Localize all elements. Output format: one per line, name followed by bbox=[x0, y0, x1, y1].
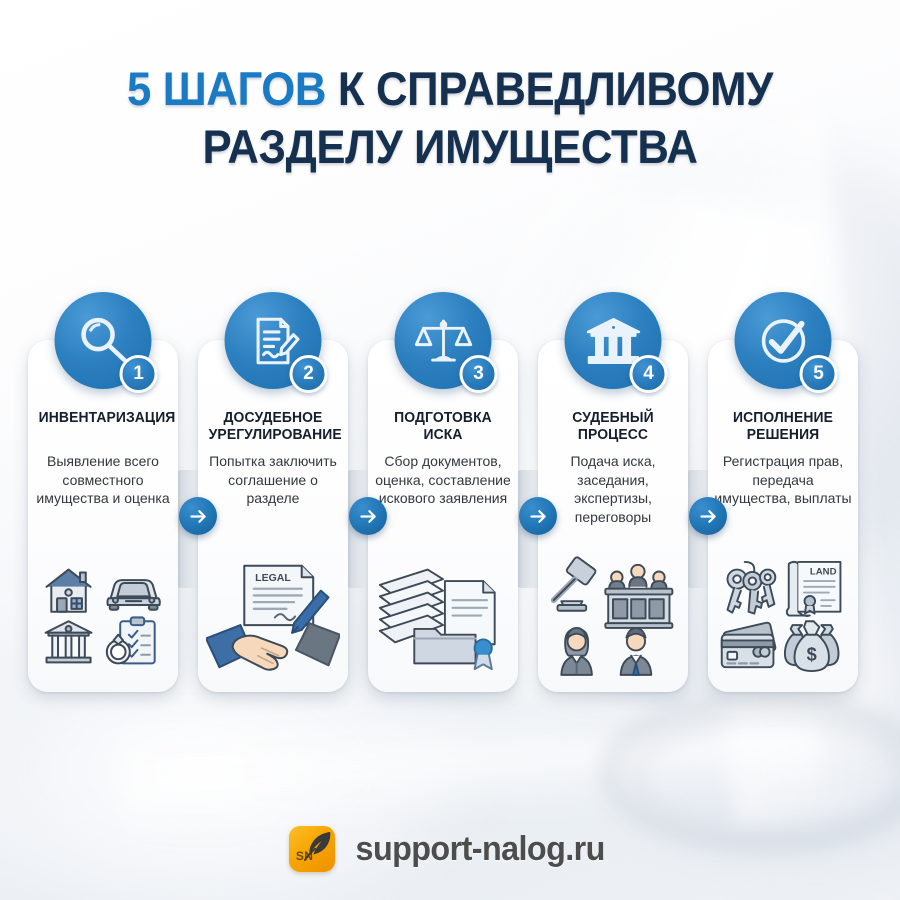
arrow-1-to-2[interactable] bbox=[179, 497, 217, 535]
arrow-4-to-5[interactable] bbox=[689, 497, 727, 535]
illustration-house-car-bank-ring bbox=[36, 552, 170, 680]
step-description: Выявление всего совместного имущества и … bbox=[34, 452, 172, 508]
step-title: ДОСУДЕБНОЕ УРЕГУЛИРОВАНИЕ bbox=[209, 410, 338, 444]
illustration-keys-deed-cards-moneybags: LAND bbox=[716, 552, 850, 680]
step-description: Подача иска, заседания, экспертизы, пере… bbox=[544, 452, 682, 526]
step-card-4[interactable]: 4 СУДЕБНЫЙ ПРОЦЕСС Подача иска, заседани… bbox=[538, 340, 688, 692]
step-description: Попытка заключить соглашение о разделе bbox=[204, 452, 342, 508]
step-number-badge: 3 bbox=[460, 355, 498, 393]
courthouse-icon: 4 bbox=[565, 292, 662, 389]
illustration-gavel-bench-lawyers bbox=[546, 552, 680, 680]
step-card-5[interactable]: 5 ИСПОЛНЕНИЕ РЕШЕНИЯ Регистрация прав, п… bbox=[708, 340, 858, 692]
infographic-canvas: 5 ШАГОВ К СПРАВЕДЛИВОМУ РАЗДЕЛУ ИМУЩЕСТВ… bbox=[0, 0, 900, 900]
page-title: 5 ШАГОВ К СПРАВЕДЛИВОМУ РАЗДЕЛУ ИМУЩЕСТВ… bbox=[0, 60, 900, 176]
scales-icon: 3 bbox=[395, 292, 492, 389]
background-light-streak-3 bbox=[117, 682, 822, 838]
step-title: ИНВЕНТАРИЗАЦИЯ bbox=[39, 410, 168, 427]
land-label: LAND bbox=[810, 566, 837, 577]
check-circle-icon: 5 bbox=[735, 292, 832, 389]
step-number-badge: 2 bbox=[290, 355, 328, 393]
title-line-1-rest: К СПРАВЕДЛИВОМУ bbox=[338, 62, 773, 115]
illustration-documents-folder-seal bbox=[376, 552, 510, 680]
legal-label: LEGAL bbox=[255, 572, 291, 584]
step-description: Регистрация прав, передача имущества, вы… bbox=[714, 452, 852, 508]
step-card-1[interactable]: 1 ИНВЕНТАРИЗАЦИЯ Выявление всего совмест… bbox=[28, 340, 178, 692]
arrow-2-to-3[interactable] bbox=[349, 497, 387, 535]
magnifier-icon: 1 bbox=[55, 292, 152, 389]
arrow-3-to-4[interactable] bbox=[519, 497, 557, 535]
site-url: support-nalog.ru bbox=[355, 830, 604, 869]
svg-text:$: $ bbox=[807, 645, 817, 665]
quill-icon bbox=[303, 829, 333, 861]
arrow-right-icon bbox=[188, 506, 209, 527]
step-title: ИСПОЛНЕНИЕ РЕШЕНИЯ bbox=[719, 410, 848, 444]
step-number-badge: 5 bbox=[800, 355, 838, 393]
step-card-3[interactable]: 3 ПОДГОТОВКА ИСКА Сбор документов, оценк… bbox=[368, 340, 518, 692]
title-line-1: 5 ШАГОВ К СПРАВЕДЛИВОМУ bbox=[32, 60, 869, 118]
illustration-handshake-legal-document: LEGAL bbox=[206, 552, 340, 680]
title-line-2: РАЗДЕЛУ ИМУЩЕСТВА bbox=[32, 118, 869, 176]
title-accent: 5 ШАГОВ bbox=[127, 62, 326, 115]
arrow-right-icon bbox=[698, 506, 719, 527]
background-gavel-block-blur-inner bbox=[630, 710, 900, 840]
step-number-badge: 4 bbox=[630, 355, 668, 393]
step-title: СУДЕБНЫЙ ПРОЦЕСС bbox=[549, 410, 678, 444]
arrow-right-icon bbox=[528, 506, 549, 527]
document-pen-icon: 2 bbox=[225, 292, 322, 389]
support-nalog-logo-icon[interactable]: SN bbox=[289, 826, 335, 872]
step-number-badge: 1 bbox=[120, 355, 158, 393]
arrow-right-icon bbox=[358, 506, 379, 527]
step-description: Сбор документов, оценка, составление иск… bbox=[374, 452, 512, 508]
footer-branding: SN support-nalog.ru bbox=[0, 826, 900, 872]
step-title: ПОДГОТОВКА ИСКА bbox=[379, 410, 508, 444]
step-card-2[interactable]: 2 ДОСУДЕБНОЕ УРЕГУЛИРОВАНИЕ Попытка закл… bbox=[198, 340, 348, 692]
